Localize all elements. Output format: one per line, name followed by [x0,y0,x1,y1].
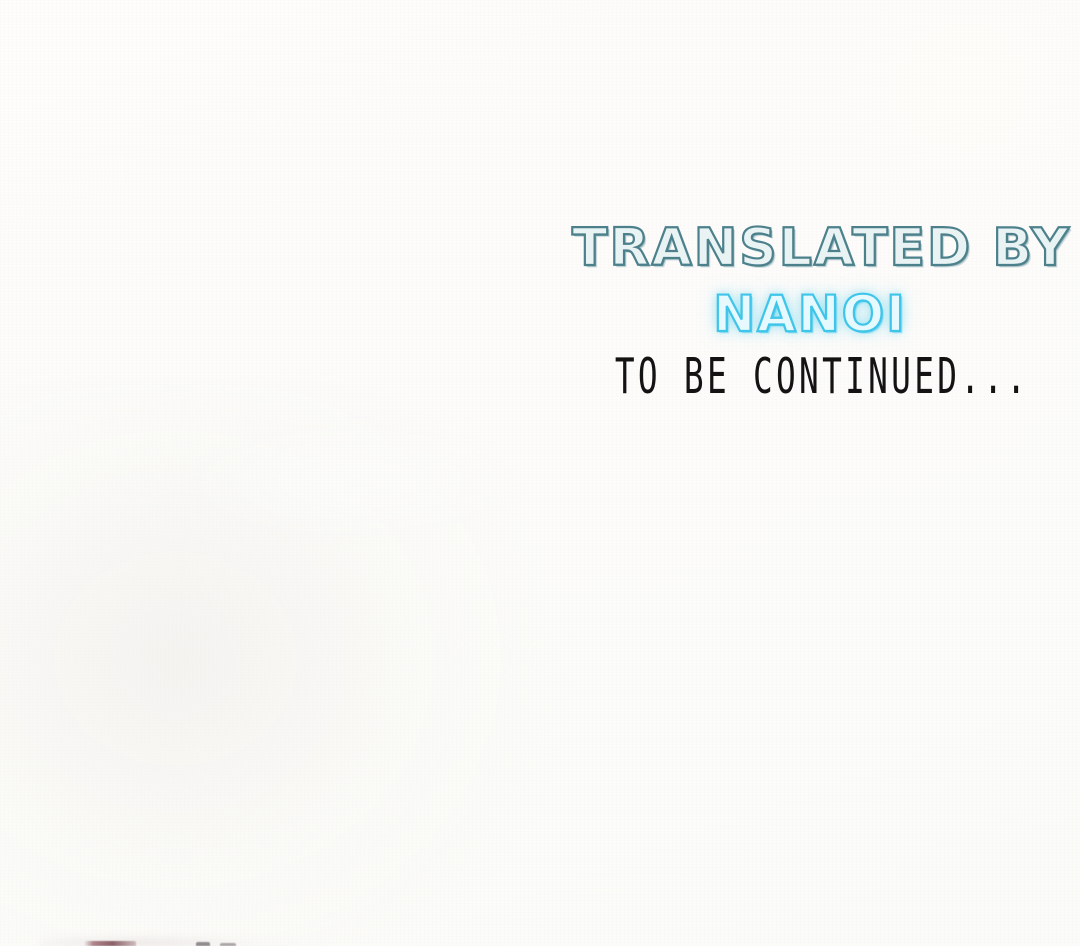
edge-smudge [40,932,300,946]
translator-name: NANOI [572,289,1048,340]
credits-block: TRANSLATED BY NANOI TO BE CONTINUED... [572,222,1048,398]
episode-end-card: TRANSLATED BY NANOI TO BE CONTINUED... [0,0,1080,946]
dark-mark-a [196,942,210,946]
to-be-continued-label: TO BE CONTINUED... [615,351,1005,402]
maroon-bar-mark [84,941,136,946]
translated-by-label: TRANSLATED BY [572,222,1048,275]
paper-texture-overlay [0,0,1080,946]
bottom-edge-artwork [0,922,540,946]
